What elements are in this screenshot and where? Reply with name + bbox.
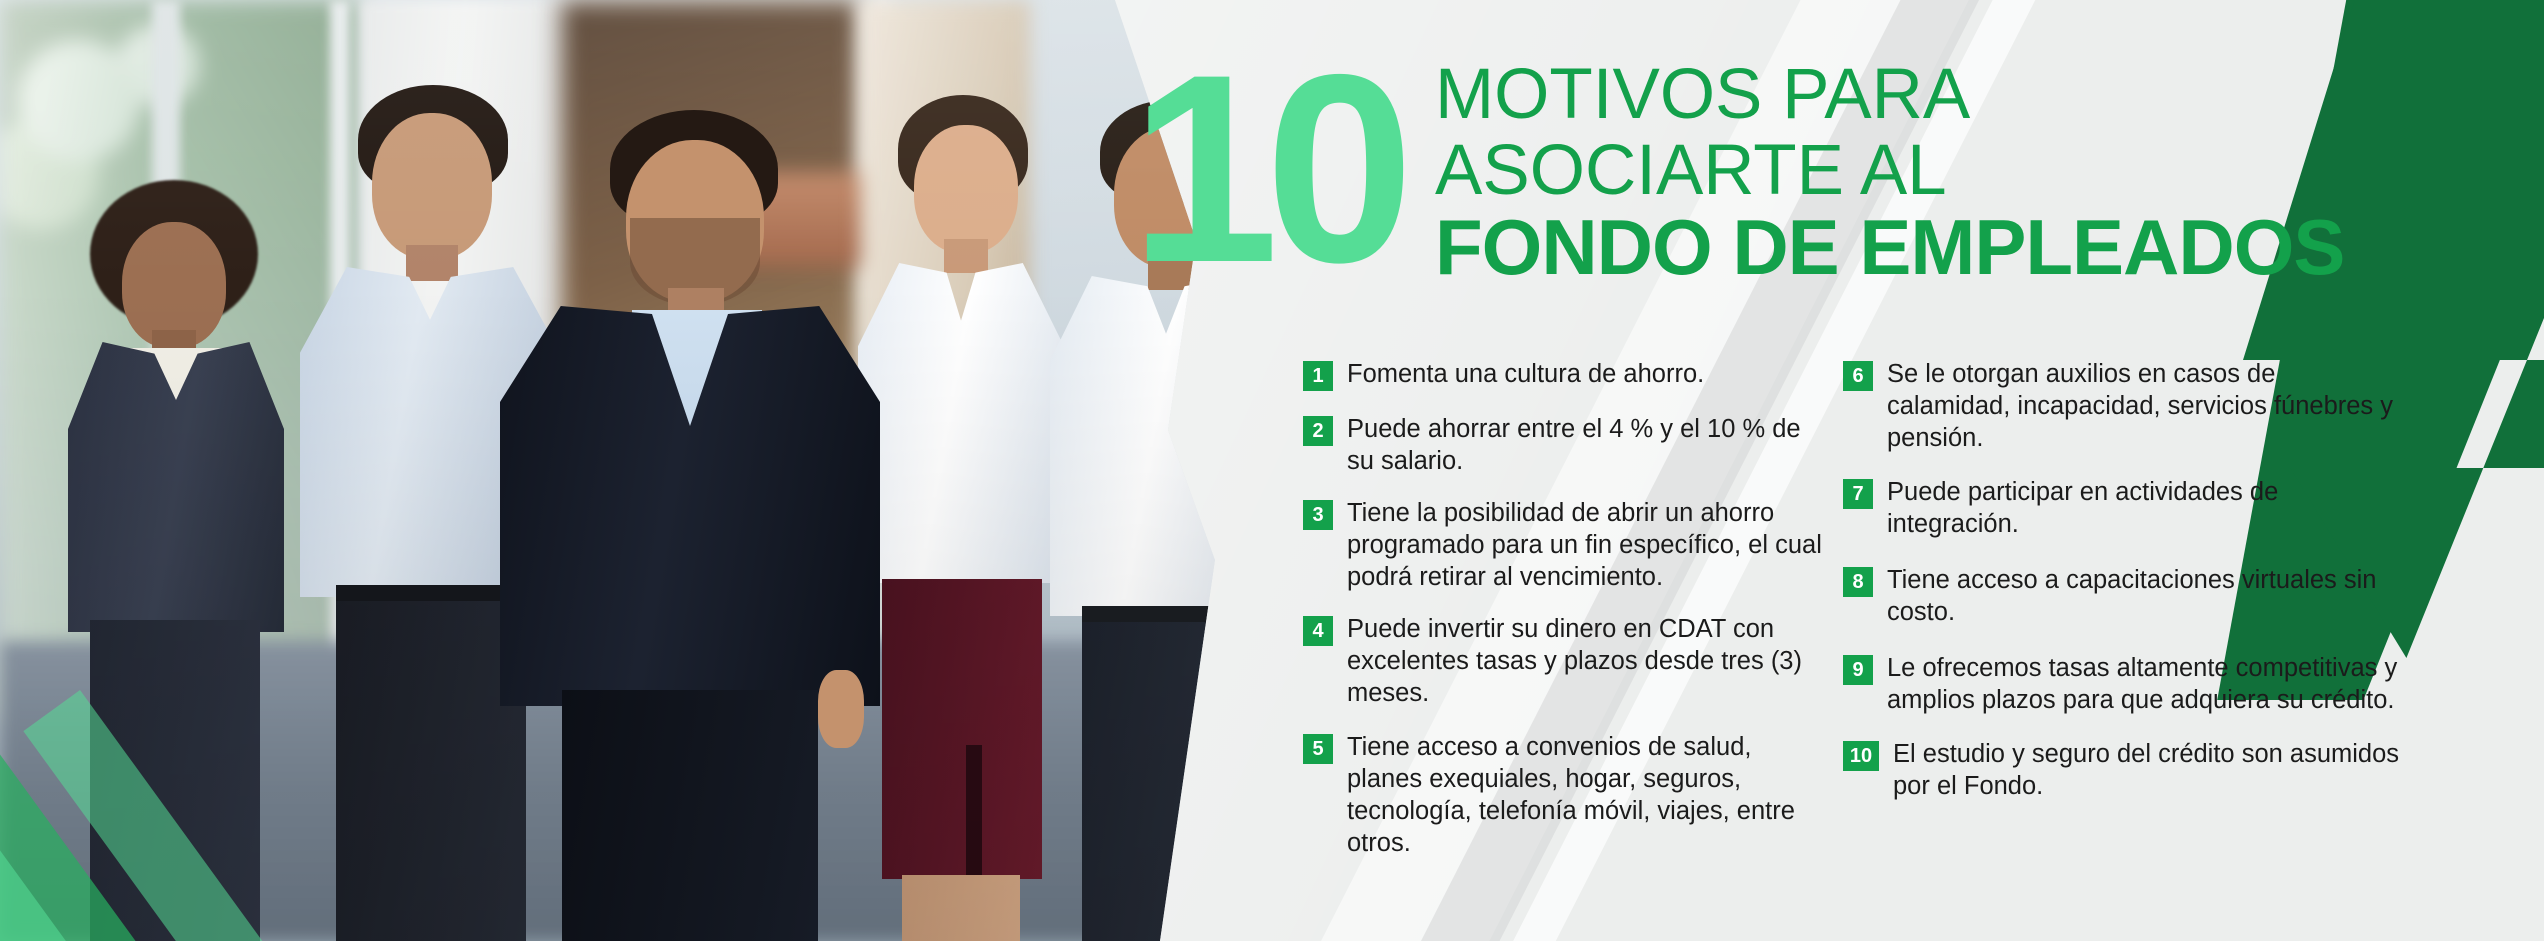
person-man-dark-suit (500, 110, 880, 941)
benefit-number-badge: 9 (1843, 655, 1873, 685)
benefit-number-badge: 10 (1843, 741, 1879, 771)
benefits-column-left: 1 Fomenta una cultura de ahorro. 2 Puede… (1303, 358, 1823, 879)
benefit-item: 1 Fomenta una cultura de ahorro. (1303, 358, 1823, 391)
benefit-number-badge: 6 (1843, 361, 1873, 391)
benefit-text: Tiene acceso a convenios de salud, plane… (1347, 731, 1823, 859)
benefit-item: 6 Se le otorgan auxilios en casos de cal… (1843, 358, 2403, 454)
benefit-text: Le ofrecemos tasas altamente competitiva… (1887, 652, 2403, 716)
headline-line-3: FONDO DE EMPLEADOS (1435, 202, 2344, 284)
benefit-item: 3 Tiene la posibilidad de abrir un ahorr… (1303, 497, 1823, 593)
benefit-text: Puede invertir su dinero en CDAT con exc… (1347, 613, 1823, 709)
benefit-text: Se le otorgan auxilios en casos de calam… (1887, 358, 2403, 454)
benefit-item: 4 Puede invertir su dinero en CDAT con e… (1303, 613, 1823, 709)
headline-line-2: ASOCIARTE AL (1435, 126, 2344, 202)
benefit-number-badge: 1 (1303, 361, 1333, 391)
benefit-number-badge: 5 (1303, 734, 1333, 764)
benefit-item: 5 Tiene acceso a convenios de salud, pla… (1303, 731, 1823, 859)
benefit-item: 9 Le ofrecemos tasas altamente competiti… (1843, 652, 2403, 716)
benefit-text: Tiene acceso a capacitaciones virtuales … (1887, 564, 2403, 628)
headline-lines: MOTIVOS PARA ASOCIARTE AL FONDO DE EMPLE… (1435, 48, 2344, 284)
benefit-text: Fomenta una cultura de ahorro. (1347, 358, 1704, 390)
promotional-banner: 10 MOTIVOS PARA ASOCIARTE AL FONDO DE EM… (0, 0, 2544, 941)
photo-scene (0, 0, 1320, 941)
legs (562, 690, 818, 941)
benefit-text: El estudio y seguro del crédito son asum… (1893, 738, 2403, 802)
hand (818, 670, 864, 748)
benefit-text: Puede participar en actividades de integ… (1887, 476, 2403, 540)
benefit-text: Tiene la posibilidad de abrir un ahorro … (1347, 497, 1823, 593)
headline-number: 10 (1130, 34, 1400, 302)
headline: 10 MOTIVOS PARA ASOCIARTE AL FONDO DE EM… (1130, 48, 2520, 318)
benefit-item: 8 Tiene acceso a capacitaciones virtuale… (1843, 564, 2403, 628)
benefit-item: 2 Puede ahorrar entre el 4 % y el 10 % d… (1303, 413, 1823, 477)
benefit-number-badge: 4 (1303, 616, 1333, 646)
headline-line-1: MOTIVOS PARA (1435, 48, 2344, 126)
benefit-number-badge: 7 (1843, 479, 1873, 509)
benefit-number-badge: 3 (1303, 500, 1333, 530)
benefit-text: Puede ahorrar entre el 4 % y el 10 % de … (1347, 413, 1823, 477)
team-photo (0, 0, 1320, 941)
benefit-number-badge: 2 (1303, 416, 1333, 446)
benefit-item: 7 Puede participar en actividades de int… (1843, 476, 2403, 540)
benefits-column-right: 6 Se le otorgan auxilios en casos de cal… (1843, 358, 2403, 822)
benefit-item: 10 El estudio y seguro del crédito son a… (1843, 738, 2403, 802)
benefit-number-badge: 8 (1843, 567, 1873, 597)
